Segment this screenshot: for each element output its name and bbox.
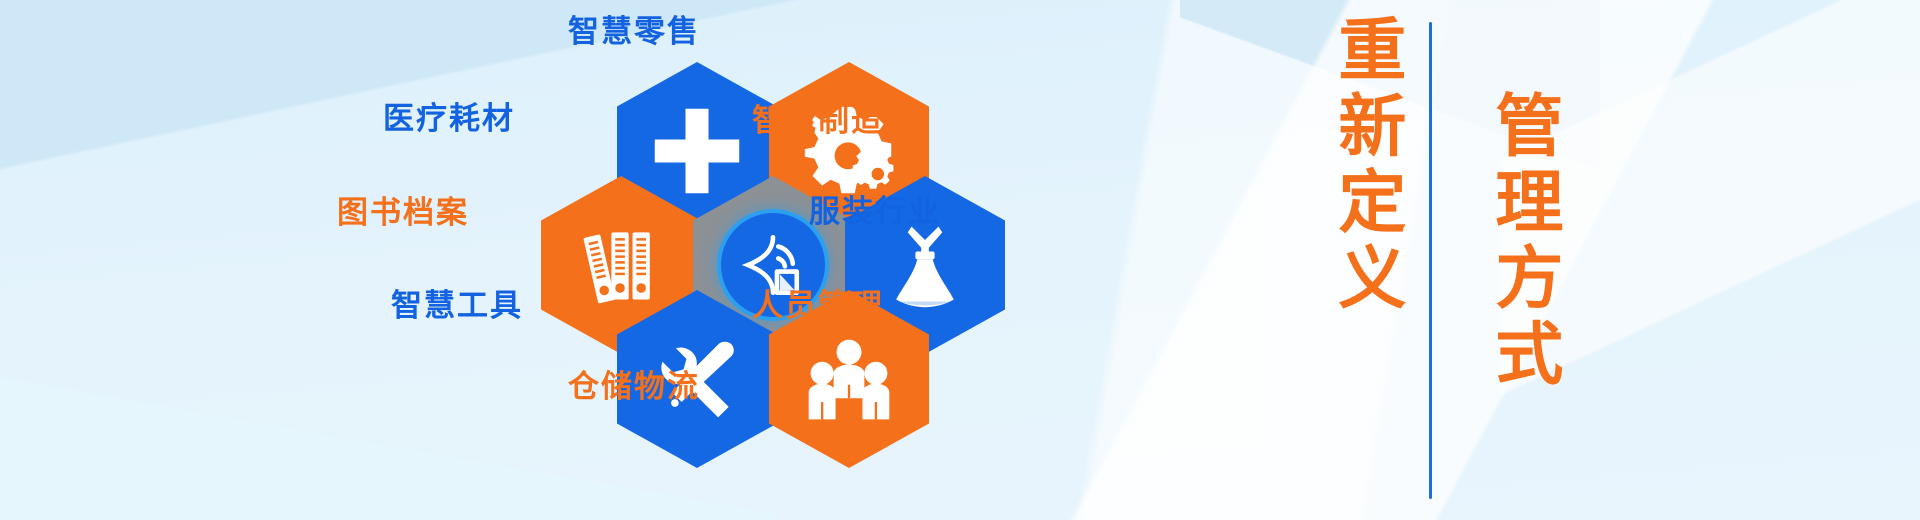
label-archive: 图书档案	[337, 197, 469, 228]
binders-archive-icon	[573, 217, 669, 313]
wedding-dress-icon	[877, 217, 973, 313]
people-group-icon	[801, 331, 897, 427]
label-logistics: 仓储物流	[568, 371, 700, 402]
label-apparel: 服装行业	[809, 196, 941, 227]
slogan-divider	[1429, 22, 1432, 499]
background-band-right	[980, 0, 1920, 520]
slogan-column-right: 管理方式	[1475, 90, 1569, 394]
banner-stage: 智慧零售 医疗耗材 智能制造 图书档案 服装行业 智慧工具 人员管理 仓储物流 …	[0, 0, 1920, 520]
slogan-column-left: 重新定义	[1318, 14, 1412, 318]
medical-cross-icon	[649, 103, 745, 199]
label-tools: 智慧工具	[391, 290, 523, 321]
label-personnel: 人员管理	[752, 290, 884, 321]
label-medical: 医疗耗材	[383, 103, 515, 134]
label-retail: 智慧零售	[568, 16, 700, 47]
label-manufacture: 智能制造	[752, 105, 884, 136]
